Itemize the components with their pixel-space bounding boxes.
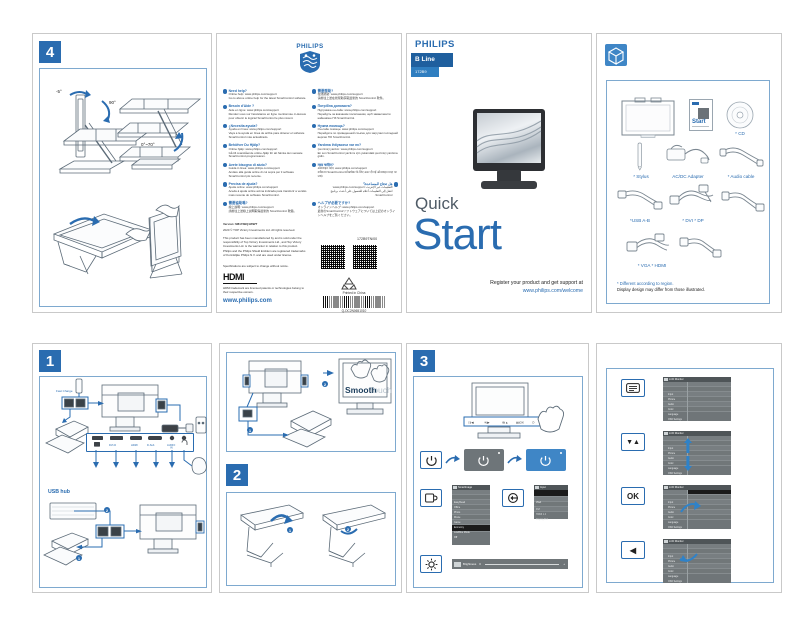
support-item: Потрібна допомога? Підтримка он-лайн: ww… (312, 104, 398, 120)
register-text: Register your product and get support at… (433, 280, 583, 296)
step-number-1: 1 (39, 350, 61, 372)
support-item: मदद चाहिए? ऑनलाइन मदद: www.philips.com/s… (312, 163, 398, 179)
panel-accessories: Start * CD * Stylus (596, 33, 782, 313)
barcode-number: Q-DC2N0651010 (323, 309, 385, 314)
lang-bullet-icon (312, 144, 316, 148)
lang-bullet-icon (223, 124, 227, 128)
philips-shield-logo: PHILIPS (295, 43, 325, 77)
support-item: Avete bisogno di aiuto? Guida in linea: … (223, 163, 307, 179)
philips-wordmark: PHILIPS (295, 43, 325, 50)
lang-bullet-icon (312, 89, 316, 93)
stand-marker-1: 1 (287, 527, 293, 533)
power-icon (426, 455, 437, 466)
accessories-illustration: Start * CD * Stylus (606, 80, 770, 304)
svg-text:✳|▶: ✳|▶ (484, 421, 490, 425)
menu-icon (626, 383, 640, 393)
support-item-body: 在线帮助: www.philips.com/support 请前往上述在线帮助获… (318, 93, 398, 101)
register-line: Register your product and get support at (433, 280, 583, 288)
osd-navigation-illustration: LCD Monitor Input Picture Audio Color La… (606, 368, 774, 583)
stand-fold-illustration: 1 2 (226, 492, 396, 586)
philips-wordmark: PHILIPS (415, 39, 455, 50)
cover-title-start: Start (413, 210, 501, 260)
support-item: ヘルプが必要ですか? オンラインヘルプ: www.philips.com/sup… (312, 201, 398, 217)
model-code: 172B9TN/00 (357, 237, 377, 242)
touch-marker-1: 1 (247, 427, 253, 433)
support-item-body: Ajuda online: www.philips.com/support Ac… (229, 186, 307, 198)
accessory-label-vga-hdmi: * VGA * HDMI (621, 263, 683, 268)
copyright-line: 2020 © TOP Victory Investments Ltd. All … (223, 228, 307, 232)
support-item-body: Guida in linea: www.philips.com/support … (229, 167, 307, 179)
connect-marker-2: 2 (104, 507, 110, 513)
dvi-dp-cable-icon (669, 181, 719, 215)
osd-screen-3: LCD Monitor Input Picture Audio Color La… (663, 485, 731, 529)
lang-bullet-icon (223, 163, 227, 167)
lang-bullet-icon (312, 105, 316, 109)
support-item: Нужна помощь? Он-лайн помощь: www.philip… (312, 124, 398, 140)
up-down-arrows-icon: ▼▲ (626, 439, 640, 446)
support-right-column: 需要帮助? 在线帮助: www.philips.com/support 请前往上… (312, 89, 398, 221)
model-badge: 172B9 (411, 67, 439, 77)
swivel-angle-label: 90° (109, 100, 116, 105)
step-number-4: 4 (39, 41, 61, 63)
svg-text:Touch: Touch (369, 385, 392, 395)
support-item: هل تحتاج للمساعدة؟ التعليمات عبر الإنترن… (312, 182, 398, 198)
panel-cover: PHILIPS B Line 172B9 Quick Start (406, 33, 592, 313)
input-source-key[interactable] (502, 489, 524, 507)
connections-illustration: Fast Charge (39, 376, 207, 588)
osd-screen-1: LCD Monitor Input Picture Audio Color La… (663, 377, 731, 421)
support-item-body: 線上說明: www.philips.com/support 請前往上述線上說明取… (229, 206, 307, 214)
recycle-icon (341, 276, 357, 290)
touch-illustration: Smooth Touch 1 2 (226, 352, 396, 452)
step-number-3: 3 (413, 350, 435, 372)
osd-menu-title: LCD Monitor (669, 540, 684, 543)
arrow-right-icon-2 (508, 455, 522, 467)
legal-paragraph: This product has been manufactured by an… (223, 236, 307, 257)
support-item-body: Ayuda en línea: www.philips.com/support … (229, 128, 307, 140)
accessories-note: * Different according to region. Display… (617, 281, 763, 294)
spec-note: Specifications are subject to change wit… (223, 264, 307, 268)
tilt-back-angle-label: -5° (56, 89, 62, 94)
osd-menu-title: LCD Monitor (669, 432, 684, 435)
pivot-angle-label: 0°~70° (141, 142, 155, 147)
svg-text:D-Sub: D-Sub (147, 443, 155, 447)
osd-menu-item-selected[interactable]: VGA (534, 490, 568, 497)
panel-connections: 1 Fast Charge (32, 343, 212, 593)
model-label: 172B9 (415, 69, 427, 74)
brightness-osd-bar: Brightness 0 + (452, 559, 568, 569)
svg-text:DVI-D: DVI-D (109, 443, 116, 447)
brightness-plus-icon[interactable]: + (563, 562, 565, 566)
hdmi-wordmark: HDMI (223, 272, 244, 282)
svg-text:▤|OK: ▤|OK (516, 421, 524, 425)
support-item-body: オンラインヘルプ: www.philips.com/support 最新のSma… (318, 206, 398, 218)
support-item-body: Он-лайн помощь: www.philips.com/support … (318, 128, 398, 140)
stand-marker-2: 2 (345, 526, 351, 532)
version-line: Version: M8172BQ1WWT (223, 222, 307, 226)
step-number-2: 2 (226, 464, 248, 486)
accessories-note-line2: Display design may differ from those ill… (617, 287, 763, 293)
support-item-body: Çevrimiçi yardım: www.philips.com/suppor… (318, 148, 398, 160)
register-url[interactable]: www.philips.com/welcome (433, 288, 583, 296)
barcode (323, 296, 385, 308)
svg-text:⊕|▲: ⊕|▲ (502, 421, 508, 425)
accessory-label-dvi-dp: * DVI * DP (665, 218, 721, 223)
accessory-label-cd: * CD (726, 131, 754, 136)
support-item: 需要協助嗎? 線上說明: www.philips.com/support 請前往… (223, 201, 307, 213)
ok-label: OK (627, 492, 639, 501)
spare-cable-icon (721, 185, 765, 215)
monitor-base (481, 181, 537, 189)
osd-screen-2: LCD Monitor Input Picture Audio Color La… (663, 431, 731, 475)
back-arrow-icon: ◀ (630, 546, 636, 555)
accessory-label-audio: * Audio cable (713, 174, 769, 179)
support-item-body: Підтримка он-лайн: www.philips.com/suppo… (318, 109, 398, 121)
connect-marker-1: 1 (76, 555, 82, 561)
qr-code-right (353, 245, 377, 269)
osd-back-key[interactable]: ◀ (621, 541, 645, 559)
osd-menu-item[interactable]: DisplayPort (534, 507, 568, 512)
lang-bullet-icon (223, 182, 227, 186)
input-menu-title: Input (540, 486, 546, 489)
osd-navigate-key[interactable]: ▼▲ (621, 433, 645, 451)
input-osd-menu: Input VGA DVI HDMI 1.4 DisplayPort (534, 485, 568, 519)
hdmi-underline (223, 283, 257, 284)
svg-text:HDMI: HDMI (131, 443, 138, 447)
support-item-body: Online help: www.philips.com/support Go … (229, 93, 307, 101)
osd-enter-arrow-icon (679, 498, 705, 516)
lang-bullet-icon (312, 163, 316, 167)
hdmi-cable-icon (679, 231, 723, 261)
power-state-on (526, 449, 566, 471)
stylus-icon (635, 141, 645, 171)
support-item-body: التعليمات عبر الإنترنت: www.philips.com/… (312, 186, 392, 198)
lang-bullet-icon (312, 202, 316, 206)
support-item-body: ऑनलाइन मदद: www.philips.com/support नवीन… (318, 167, 398, 179)
osd-ok-key[interactable]: OK (621, 487, 645, 505)
osd-menu-title: LCD Monitor (669, 486, 684, 489)
support-item: Yardıma ihtiyacınız var mı? Çevrimiçi ya… (312, 143, 398, 159)
accessory-label-stylus: * Stylus (621, 174, 661, 179)
support-item: Besoin d'Aide ? Aide en ligne: www.phili… (223, 104, 307, 120)
accessory-label-usb: *USB A-B (613, 218, 667, 223)
input-source-icon (507, 492, 519, 504)
support-item-body: Aide en ligne: www.philips.com/support R… (229, 109, 307, 121)
power-key[interactable] (420, 451, 442, 469)
panel-tilt-swivel: 4 (32, 33, 212, 313)
osd-menu-key[interactable] (621, 379, 645, 397)
power-osd-illustration: ⊡|◀ ✳|▶ ⊕|▲ ▤|OK ⏻ (413, 376, 583, 588)
smartimage-icon (425, 493, 438, 504)
smartimage-key[interactable] (420, 489, 442, 507)
lang-bullet-icon (312, 124, 316, 128)
support-left-column: Need help? Online help: www.philips.com/… (223, 89, 307, 217)
cd-disc-icon (726, 101, 754, 129)
svg-text:IN: IN (170, 446, 173, 450)
support-item: Need help? Online help: www.philips.com/… (223, 89, 307, 101)
quickstart-booklet-icon: Start (689, 99, 713, 131)
lang-bullet-icon (223, 105, 227, 109)
lang-bullet-icon (394, 182, 398, 186)
panel-power-osd: 3 ⊡|◀ ✳|▶ ⊕|▲ ▤|OK ⏻ (406, 343, 589, 593)
support-item-body: Online hjälp: www.philips.com/support Gå… (229, 148, 307, 160)
audio-cable-icon (719, 141, 763, 171)
panel-touch-and-stand: Smooth Touch 1 2 2 (219, 343, 402, 593)
series-badge: B Line (411, 53, 453, 67)
booklet-start-label: Start (692, 119, 706, 125)
osd-left-item[interactable]: OSD Settings (663, 407, 687, 412)
accessory-label-adapter: AC/DC Adapter (659, 174, 717, 179)
osd-back-arrow-icon (677, 550, 703, 568)
osd-screen-4: LCD Monitor Input Picture Audio Color La… (663, 539, 731, 583)
support-item: Behöfver Du Hjälp? Online hjälp: www.phi… (223, 143, 307, 159)
support-item: Precisa de ajuda? Ajuda online: www.phil… (223, 182, 307, 198)
printed-in-label: Printed in China (329, 291, 379, 296)
philips-website-link[interactable]: www.philips.com (223, 298, 272, 304)
power-state-dim (464, 449, 504, 471)
monitor-hero-image (471, 109, 547, 209)
cover-brand-block: PHILIPS B Line 172B9 (411, 36, 467, 82)
vga-hdmi-cable-icon (625, 229, 671, 261)
hdmi-note: HDMI trademark are licensed patents or t… (223, 286, 307, 294)
series-label: B Line (415, 56, 435, 63)
svg-text:⊡|◀: ⊡|◀ (468, 421, 474, 425)
lang-bullet-icon (223, 144, 227, 148)
usb-ab-cable-icon (617, 185, 663, 215)
panel-tilt-illustration: -5° 90° (39, 68, 207, 307)
qr-code-left (321, 245, 345, 269)
usb-hub-label: USB hub (48, 489, 70, 495)
osd-scroll-arrows-icon (683, 438, 693, 472)
panel-osd-navigation: LCD Monitor Input Picture Audio Color La… (596, 343, 782, 593)
quick-start-guide-sheet: 4 (0, 0, 802, 642)
support-item: ¿Necesita ayuda? Ayuda en línea: www.phi… (223, 124, 307, 140)
brightness-slider-track[interactable] (485, 564, 559, 565)
brightness-bar-icon (454, 562, 461, 567)
brightness-bar-label: Brightness (463, 562, 476, 566)
brightness-bar-value: 0 (479, 562, 481, 566)
osd-menu-title: LCD Monitor (669, 378, 684, 381)
arrow-right-icon (446, 455, 460, 467)
lang-bullet-icon (223, 202, 227, 206)
smartimage-osd-menu: SmartImage EasyRead Office Photo Movie G… (452, 485, 490, 545)
panel-support-text: PHILIPS Need help? Online help: www.phil… (216, 33, 402, 313)
touch-marker-2: 2 (322, 381, 328, 387)
display-unit-icon (621, 97, 675, 139)
smartimage-menu-title: SmartImage (458, 486, 472, 489)
support-item: 需要帮助? 在线帮助: www.philips.com/support 请前往上… (312, 89, 398, 101)
package-box-icon (605, 44, 627, 66)
osd-left-item[interactable]: OSD Settings (663, 569, 687, 574)
brightness-key[interactable] (420, 555, 442, 573)
ac-dc-adapter-icon (665, 141, 711, 171)
lang-bullet-icon (223, 89, 227, 93)
brightness-icon (425, 558, 438, 571)
